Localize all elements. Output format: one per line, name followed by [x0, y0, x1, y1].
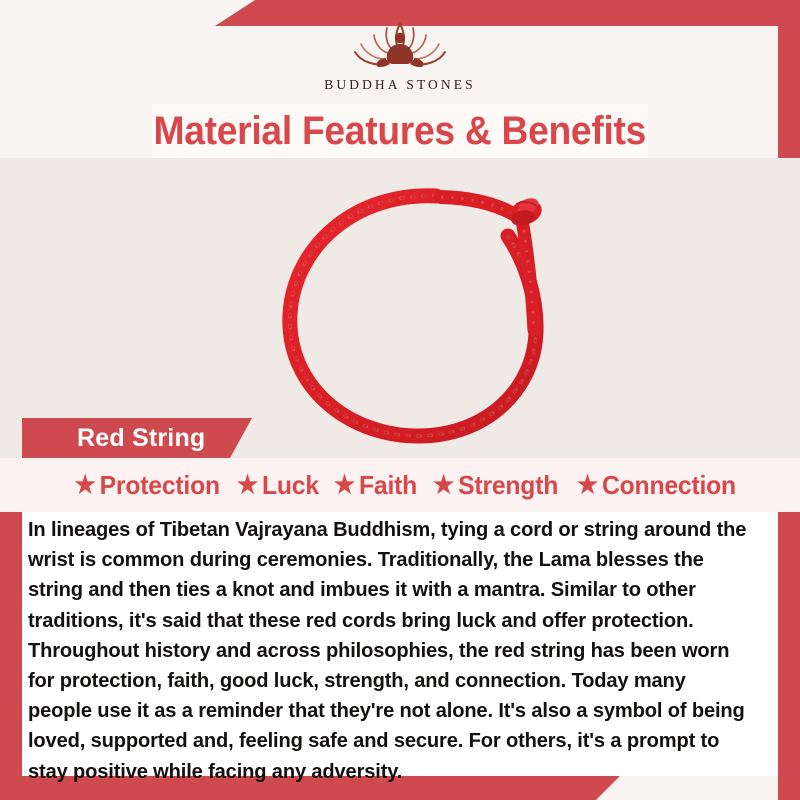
benefit-label: Protection — [99, 470, 219, 501]
brand-logo-block: BUDDHA STONES — [0, 14, 800, 100]
benefit-item-protection: ★ Protection — [64, 470, 220, 501]
star-icon: ★ — [334, 473, 355, 498]
benefit-item-luck: ★ Luck — [226, 470, 318, 501]
title-band: Material Features & Benefits — [152, 104, 648, 158]
benefit-label: Luck — [261, 470, 318, 501]
benefit-label: Faith — [359, 470, 417, 501]
description-text: In lineages of Tibetan Vajrayana Buddhis… — [28, 515, 753, 787]
benefit-item-strength: ★ Strength — [423, 470, 559, 501]
star-icon: ★ — [236, 473, 257, 498]
benefit-item-connection: ★ Connection — [567, 470, 737, 501]
star-icon: ★ — [433, 473, 454, 498]
benefit-label: Connection — [602, 470, 736, 501]
brand-name: BUDDHA STONES — [324, 77, 475, 93]
benefit-item-faith: ★ Faith — [323, 470, 417, 501]
red-string-ribbon: Red String — [22, 418, 252, 458]
ribbon-label: Red String — [22, 424, 205, 453]
benefit-label: Strength — [458, 470, 558, 501]
description-block: In lineages of Tibetan Vajrayana Buddhis… — [22, 512, 778, 776]
lotus-meditation-logo-icon — [325, 14, 475, 76]
star-icon: ★ — [577, 473, 598, 498]
star-icon: ★ — [74, 473, 95, 498]
red-braided-cord-bracelet-icon — [236, 158, 596, 458]
hero-product-image — [0, 158, 800, 458]
infographic-page: BUDDHA STONES Material Features & Benefi… — [0, 0, 800, 800]
benefits-row: ★ Protection ★ Luck ★ Faith ★ Strength ★… — [0, 458, 800, 512]
page-title: Material Features & Benefits — [154, 109, 646, 154]
